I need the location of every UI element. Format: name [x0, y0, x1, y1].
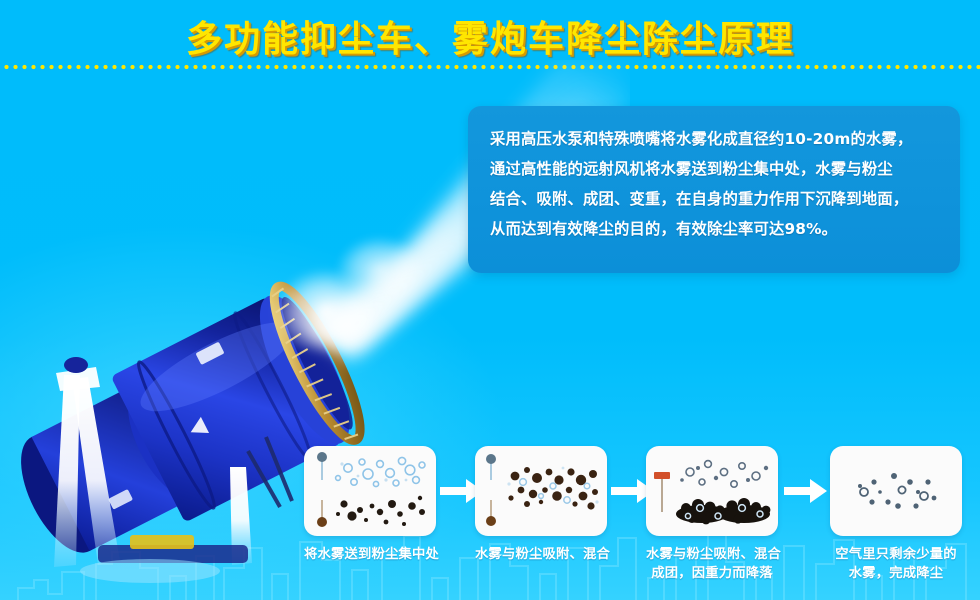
dotted-divider	[0, 64, 980, 70]
step-1-caption-line-1: 将水雾送到粉尘集中处	[304, 545, 436, 564]
step-4-caption-line-2: 水雾，完成降尘	[830, 564, 962, 583]
process-step-3[interactable]: 水雾与粉尘吸附、混合 成团，因重力而降落	[646, 446, 778, 583]
process-steps: 将水雾送到粉尘集中处	[0, 446, 980, 600]
step-2-illustration	[475, 446, 607, 536]
step-1-illustration	[304, 446, 436, 536]
description-line-4: 从而达到有效降尘的目的，有效除尘率可达98%。	[490, 214, 942, 244]
process-step-1[interactable]: 将水雾送到粉尘集中处	[304, 446, 436, 564]
description-panel: 采用高压水泵和特殊喷嘴将水雾化成直径约10-20m的水雾， 通过高性能的远射风机…	[468, 106, 960, 273]
page-title: 多功能抑尘车、雾炮车降尘除尘原理	[0, 10, 980, 62]
step-3-caption-line-1: 水雾与粉尘吸附、混合	[646, 545, 778, 564]
description-text: 采用高压水泵和特殊喷嘴将水雾化成直径约10-20m的水雾， 通过高性能的远射风机…	[490, 124, 942, 244]
poster-header: 多功能抑尘车、雾炮车降尘除尘原理	[0, 0, 980, 78]
process-step-4[interactable]: 空气里只剩余少量的 水雾，完成降尘	[830, 446, 962, 583]
description-line-1: 采用高压水泵和特殊喷嘴将水雾化成直径约10-20m的水雾，	[490, 124, 942, 154]
step-2-caption: 水雾与粉尘吸附、混合	[475, 545, 607, 564]
step-3-illustration	[646, 446, 778, 536]
step-2-caption-line-1: 水雾与粉尘吸附、混合	[475, 545, 607, 564]
step-3-caption: 水雾与粉尘吸附、混合 成团，因重力而降落	[646, 545, 778, 583]
step-4-caption-line-1: 空气里只剩余少量的	[830, 545, 962, 564]
step-1-caption: 将水雾送到粉尘集中处	[304, 545, 436, 564]
description-line-3: 结合、吸附、成团、变重，在自身的重力作用下沉降到地面，	[490, 184, 942, 214]
poster-canvas: 多功能抑尘车、雾炮车降尘除尘原理	[0, 0, 980, 600]
description-line-2: 通过高性能的远射风机将水雾送到粉尘集中处，水雾与粉尘	[490, 154, 942, 184]
step-3-caption-line-2: 成团，因重力而降落	[646, 564, 778, 583]
step-4-illustration	[830, 446, 962, 536]
arrow-right-icon-3	[784, 476, 828, 506]
step-4-caption: 空气里只剩余少量的 水雾，完成降尘	[830, 545, 962, 583]
process-step-2[interactable]: 水雾与粉尘吸附、混合	[475, 446, 607, 564]
